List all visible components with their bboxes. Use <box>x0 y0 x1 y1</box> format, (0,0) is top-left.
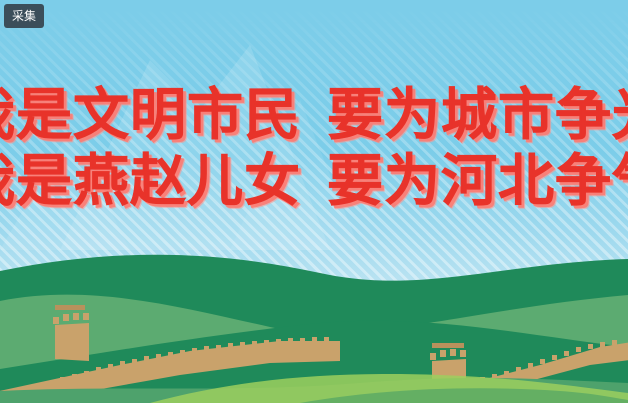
slogan-block: 我是文明市民 要为城市争光 我是燕赵儿女 要为河北争气 <box>0 88 628 210</box>
slogan-line-1-left: 我是文明市民 <box>0 88 301 144</box>
hill-landscape <box>0 243 628 403</box>
slogan-line-2: 我是燕赵儿女 要为河北争气 <box>0 154 628 210</box>
capture-button[interactable]: 采集 <box>4 4 44 28</box>
slogan-line-2-left: 我是燕赵儿女 <box>0 154 301 210</box>
slogan-line-1-right: 要为城市争光 <box>327 88 628 144</box>
banner-screenshot: 我是文明市民 要为城市争光 我是燕赵儿女 要为河北争气 采集 <box>0 0 628 403</box>
slogan-line-1: 我是文明市民 要为城市争光 <box>0 88 628 144</box>
slogan-line-2-right: 要为河北争气 <box>327 154 628 210</box>
